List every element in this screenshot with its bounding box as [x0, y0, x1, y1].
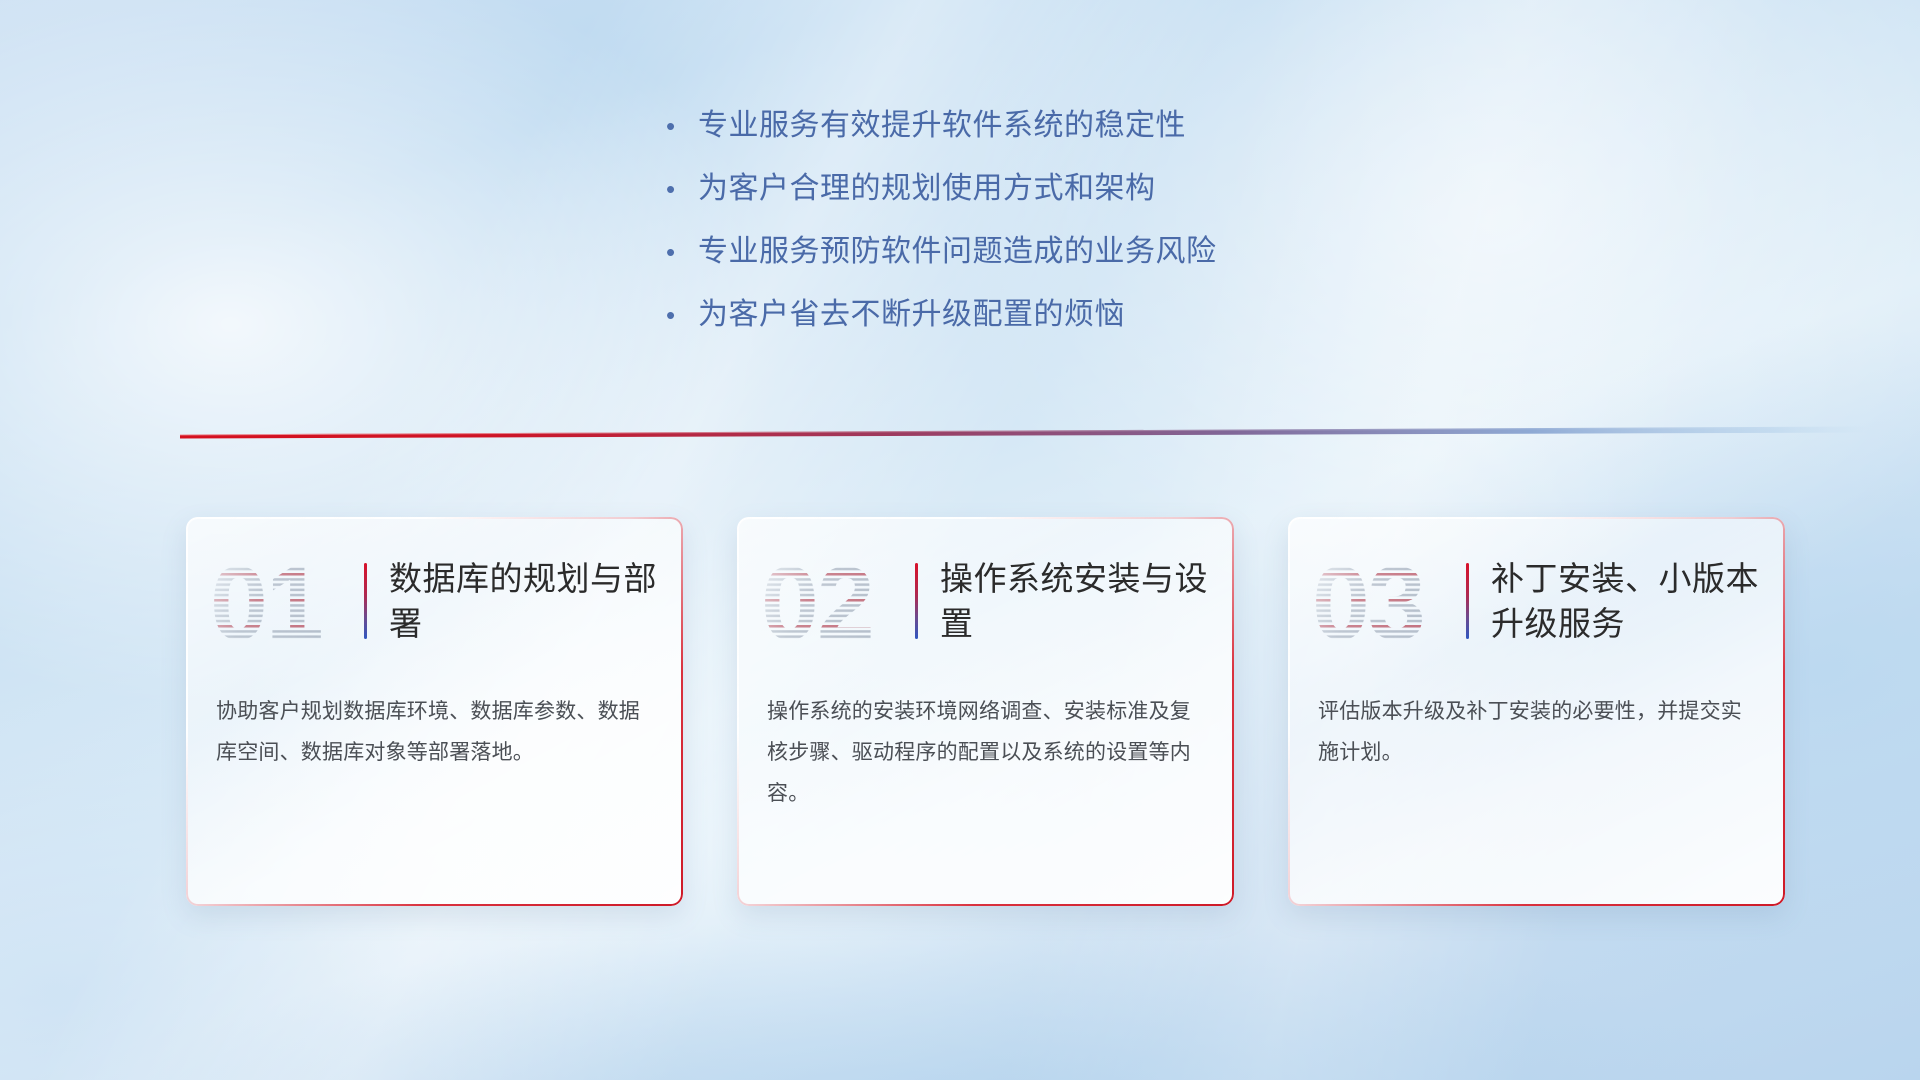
card-header: 01 01 数据库的规划与部署	[186, 517, 683, 685]
bullet-text: 专业服务预防软件问题造成的业务风险	[698, 234, 1217, 270]
card-accent-rule	[1466, 563, 1469, 639]
card-body-text: 操作系统的安装环境网络调查、安装标准及复核步骤、驱动程序的配置以及系统的设置等内…	[737, 685, 1234, 814]
card-number-03-graphic: 03 03	[1310, 547, 1458, 655]
card-accent-rule	[364, 563, 367, 639]
card-group: 01 01 数据库的规划与部署 协助客户规划数据库环境、数据库参数、数据库空间、…	[186, 517, 1786, 907]
bullet-list: • 专业服务有效提升软件系统的稳定性 • 为客户合理的规划使用方式和架构 • 专…	[660, 108, 1560, 360]
list-item: • 专业服务有效提升软件系统的稳定性	[660, 108, 1560, 144]
card-accent-rule	[915, 563, 918, 639]
card-header: 02 02 操作系统安装与设置	[737, 517, 1234, 685]
bullet-dot-icon: •	[660, 234, 698, 270]
service-card-01[interactable]: 01 01 数据库的规划与部署 协助客户规划数据库环境、数据库参数、数据库空间、…	[186, 517, 683, 906]
list-item: • 为客户省去不断升级配置的烦恼	[660, 297, 1560, 333]
bullet-text: 为客户省去不断升级配置的烦恼	[698, 297, 1125, 333]
card-title: 数据库的规划与部署	[389, 556, 657, 646]
card-body-text: 评估版本升级及补丁安装的必要性，并提交实施计划。	[1288, 685, 1785, 773]
svg-text:03: 03	[1312, 547, 1424, 655]
bullet-text: 专业服务有效提升软件系统的稳定性	[698, 108, 1186, 144]
card-number-02-graphic: 02 02	[759, 547, 907, 655]
card-title: 操作系统安装与设置	[940, 556, 1208, 646]
svg-text:02: 02	[761, 547, 873, 655]
bullet-text: 为客户合理的规划使用方式和架构	[698, 171, 1156, 207]
bullet-dot-icon: •	[660, 108, 698, 144]
service-card-02[interactable]: 02 02 操作系统安装与设置 操作系统的安装环境网络调查、安装标准及复核步骤、…	[737, 517, 1234, 906]
card-body-text: 协助客户规划数据库环境、数据库参数、数据库空间、数据库对象等部署落地。	[186, 685, 683, 773]
bullet-dot-icon: •	[660, 171, 698, 207]
bullet-dot-icon: •	[660, 297, 698, 333]
card-header: 03 03 补丁安装、小版本升级服务	[1288, 517, 1785, 685]
svg-text:01: 01	[210, 547, 322, 655]
card-number-01-graphic: 01 01	[208, 547, 356, 655]
card-title: 补丁安装、小版本升级服务	[1491, 556, 1759, 646]
slide-canvas: • 专业服务有效提升软件系统的稳定性 • 为客户合理的规划使用方式和架构 • 专…	[0, 0, 1920, 1080]
section-divider	[180, 420, 1870, 442]
list-item: • 专业服务预防软件问题造成的业务风险	[660, 234, 1560, 270]
service-card-03[interactable]: 03 03 补丁安装、小版本升级服务 评估版本升级及补丁安装的必要性，并提交实施…	[1288, 517, 1785, 906]
list-item: • 为客户合理的规划使用方式和架构	[660, 171, 1560, 207]
